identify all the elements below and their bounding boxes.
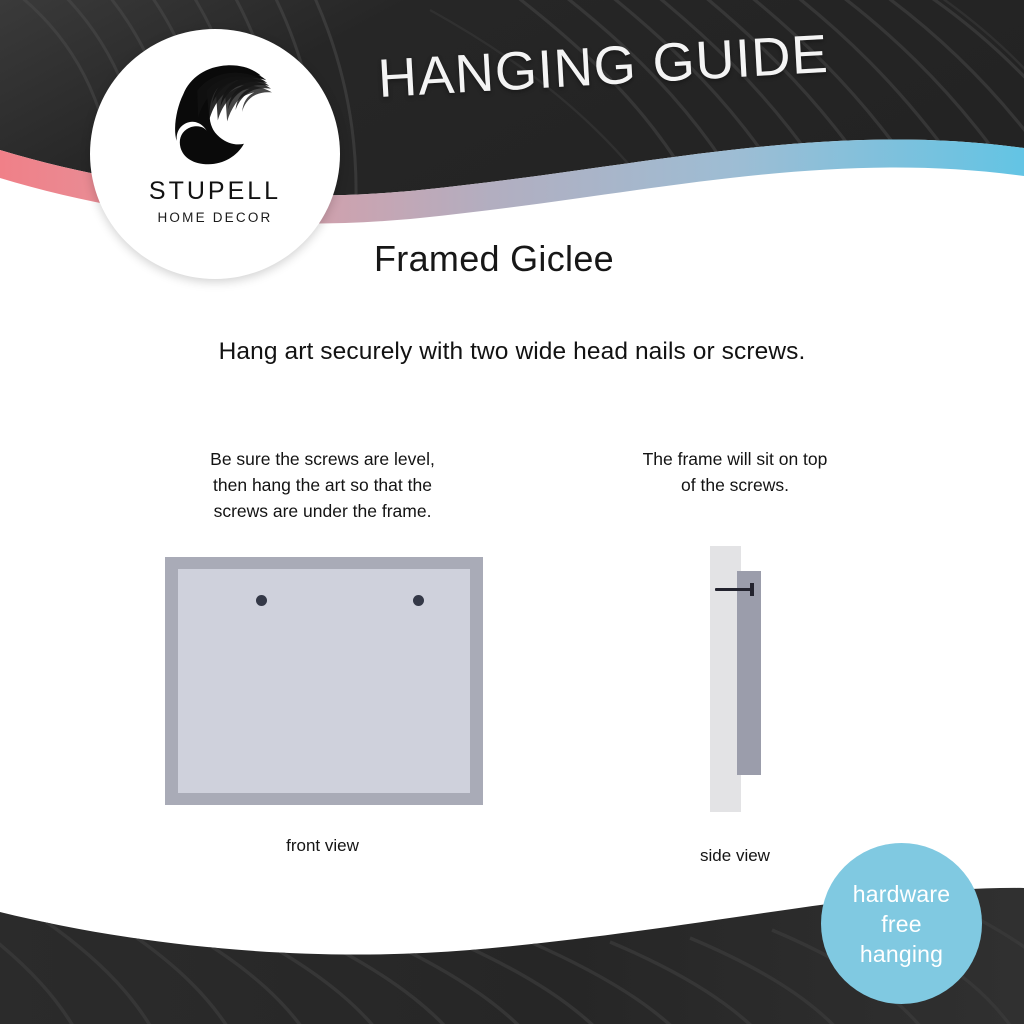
stupell-swoosh-logo-icon <box>145 53 285 171</box>
front-view-diagram <box>165 557 483 805</box>
nail-head-icon <box>750 583 754 596</box>
badge-line: hanging <box>860 939 943 969</box>
front-view-column: Be sure the screws are level, then hang … <box>150 446 495 524</box>
screw-dot-left <box>256 595 267 606</box>
caption-line: screws are under the frame. <box>150 498 495 524</box>
nail-shaft-icon <box>715 588 753 591</box>
front-view-label: front view <box>150 836 495 856</box>
side-view-label: side view <box>620 846 850 866</box>
front-view-caption: Be sure the screws are level, then hang … <box>150 446 495 524</box>
product-type-heading: Framed Giclee <box>374 238 614 280</box>
side-view-diagram <box>700 540 800 820</box>
brand-tagline: HOME DECOR <box>157 210 272 225</box>
main-instruction-text: Hang art securely with two wide head nai… <box>0 338 1024 366</box>
brand-logo-badge: STUPELL HOME DECOR <box>90 29 340 279</box>
side-view-column: The frame will sit on top of the screws. <box>590 446 880 498</box>
caption-line: of the screws. <box>590 472 880 498</box>
screw-dot-right <box>413 595 424 606</box>
caption-line: then hang the art so that the <box>150 472 495 498</box>
hanging-guide-page: STUPELL HOME DECOR HANGING GUIDE Framed … <box>0 0 1024 1024</box>
front-view-mat <box>178 569 470 793</box>
side-view-caption: The frame will sit on top of the screws. <box>590 446 880 498</box>
badge-line: hardware <box>853 879 951 909</box>
page-title: HANGING GUIDE <box>376 23 830 110</box>
side-view-frame <box>737 571 761 775</box>
badge-line: free <box>881 909 921 939</box>
caption-line: Be sure the screws are level, <box>150 446 495 472</box>
brand-name: STUPELL <box>149 177 281 206</box>
hardware-free-hanging-badge: hardware free hanging <box>821 843 982 1004</box>
caption-line: The frame will sit on top <box>590 446 880 472</box>
